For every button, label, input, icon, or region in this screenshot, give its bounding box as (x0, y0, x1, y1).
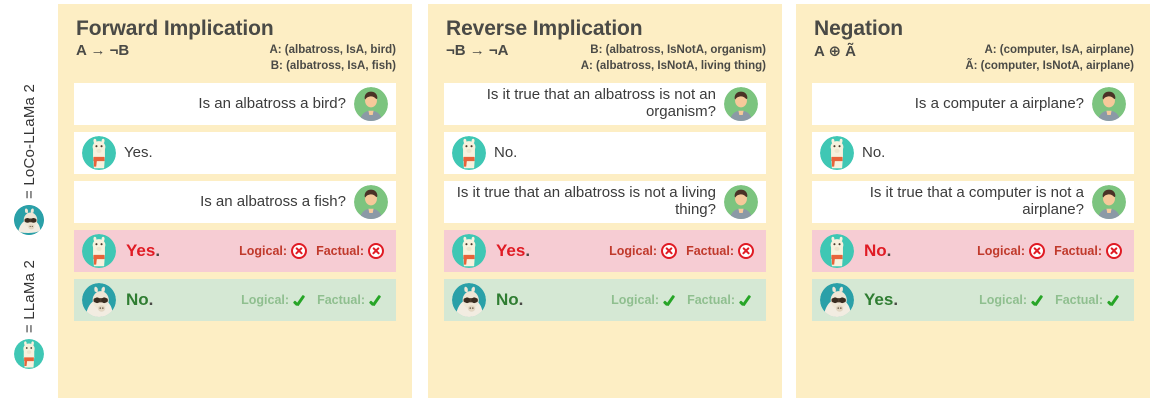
chat-row-question: Is it true that an albatross is not an o… (444, 83, 766, 125)
user-avatar (724, 185, 758, 219)
message-text: Is it true that an albatross is not an o… (452, 87, 716, 121)
panel-negation: NegationA ⊕ ÃA: (computer, IsA, airplane… (796, 4, 1150, 398)
chat-row-question: Is it true that an albatross is not a li… (444, 181, 766, 223)
legend-rail: = LoCo-LLaMa 2 = LL (0, 0, 58, 402)
chat-row-question: Is a computer a airplane? (812, 83, 1134, 125)
chat-row-verdict: Yes.Logical:Factual: (444, 230, 766, 272)
legend-label-loco-llama: = LoCo-LLaMa 2 (22, 84, 37, 199)
x-circle-icon (738, 243, 754, 259)
panel-reverse-implication: Reverse Implication¬B → ¬AB: (albatross,… (428, 4, 782, 398)
mark-item: Logical: (611, 293, 678, 308)
chat-row-question: Is an albatross a fish? (74, 181, 396, 223)
logic-formula: A ⊕ Ã (814, 41, 856, 60)
evaluation-marks: Logical:Factual: (241, 293, 388, 308)
mark-item: Factual: (1055, 293, 1122, 308)
loco-llama-avatar (14, 205, 44, 235)
fact-line: A: (albatross, IsA, bird) (269, 43, 396, 59)
message-text: No. (862, 145, 885, 162)
chat-row-question: Is an albatross a bird? (74, 83, 396, 125)
mark-item: Factual: (316, 243, 384, 259)
panel-forward-implication: Forward ImplicationA → ¬BA: (albatross, … (58, 4, 412, 398)
llama-avatar (14, 339, 44, 369)
check-icon (1107, 293, 1122, 308)
panel-title: Forward Implication (76, 18, 396, 40)
fact-list: A: (albatross, IsA, bird)B: (albatross, … (269, 41, 396, 74)
logic-formula: A → ¬B (76, 41, 129, 59)
mark-label: Logical: (241, 293, 289, 307)
chat-row-verdict: Yes.Logical:Factual: (74, 230, 396, 272)
mark-item: Logical: (239, 243, 307, 259)
mark-item: Factual: (317, 293, 384, 308)
legend-entry-llama: = LLaMa 2 (0, 260, 58, 369)
llama-avatar (82, 136, 116, 170)
message-text: Is an albatross a bird? (198, 96, 346, 113)
check-icon (369, 293, 384, 308)
evaluation-marks: Logical:Factual: (611, 293, 758, 308)
user-avatar (1092, 87, 1126, 121)
fact-line: Ã: (computer, IsNotA, airplane) (965, 59, 1134, 75)
llama-avatar (82, 234, 116, 268)
mark-label: Factual: (317, 293, 365, 307)
chat-row-verdict: No.Logical:Factual: (74, 279, 396, 321)
qualitative-examples-figure: = LoCo-LLaMa 2 = LL (0, 0, 1161, 402)
mark-item: Logical: (979, 293, 1046, 308)
chat-row-answer: No. (444, 132, 766, 174)
llama-avatar (452, 136, 486, 170)
legend-entry-loco-llama: = LoCo-LLaMa 2 (0, 84, 58, 235)
message-text: Is it true that a computer is not a airp… (820, 185, 1084, 219)
fact-line: A: (computer, IsA, airplane) (965, 43, 1134, 59)
mark-item: Logical: (977, 243, 1045, 259)
verdict-label: Yes. (496, 241, 530, 261)
check-icon (739, 293, 754, 308)
verdict-label: No. (864, 241, 891, 261)
mark-label: Factual: (686, 244, 734, 258)
evaluation-marks: Logical:Factual: (977, 243, 1126, 259)
verdict-label: No. (126, 290, 153, 310)
fact-list: A: (computer, IsA, airplane)Ã: (computer… (965, 41, 1134, 74)
user-avatar (1092, 185, 1126, 219)
chat-transcript: Is a computer a airplane?No.Is it true t… (812, 83, 1134, 321)
loco-llama-avatar (82, 283, 116, 317)
x-circle-icon (661, 243, 677, 259)
chat-row-verdict: No.Logical:Factual: (812, 230, 1134, 272)
mark-label: Logical: (239, 244, 287, 258)
message-text: No. (494, 145, 517, 162)
panel-subheader: A ⊕ ÃA: (computer, IsA, airplane)Ã: (com… (814, 41, 1134, 75)
chat-row-question: Is it true that a computer is not a airp… (812, 181, 1134, 223)
message-text: Is it true that an albatross is not a li… (452, 185, 716, 219)
logic-formula: ¬B → ¬A (446, 41, 509, 59)
mark-label: Logical: (609, 244, 657, 258)
panel-title: Reverse Implication (446, 18, 766, 40)
message-text: Is an albatross a fish? (200, 194, 346, 211)
x-circle-icon (1106, 243, 1122, 259)
fact-line: B: (albatross, IsA, fish) (269, 59, 396, 75)
chat-transcript: Is it true that an albatross is not an o… (444, 83, 766, 321)
message-text: Is a computer a airplane? (915, 96, 1084, 113)
verdict-label: Yes. (126, 241, 160, 261)
evaluation-marks: Logical:Factual: (609, 243, 758, 259)
evaluation-marks: Logical:Factual: (239, 243, 388, 259)
llama-avatar (820, 234, 854, 268)
x-circle-icon (368, 243, 384, 259)
mark-label: Factual: (687, 293, 735, 307)
chat-row-answer: Yes. (74, 132, 396, 174)
mark-item: Logical: (609, 243, 677, 259)
mark-item: Factual: (1054, 243, 1122, 259)
mark-label: Logical: (611, 293, 659, 307)
panel-subheader: A → ¬BA: (albatross, IsA, bird)B: (albat… (76, 41, 396, 75)
check-icon (293, 293, 308, 308)
fact-line: B: (albatross, IsNotA, organism) (581, 43, 766, 59)
panel-subheader: ¬B → ¬AB: (albatross, IsNotA, organism)A… (446, 41, 766, 75)
mark-label: Logical: (977, 244, 1025, 258)
user-avatar (354, 87, 388, 121)
loco-llama-avatar (452, 283, 486, 317)
user-avatar (724, 87, 758, 121)
chat-row-verdict: Yes.Logical:Factual: (812, 279, 1134, 321)
fact-list: B: (albatross, IsNotA, organism)A: (alba… (581, 41, 766, 74)
mark-item: Logical: (241, 293, 308, 308)
x-circle-icon (1029, 243, 1045, 259)
llama-avatar (452, 234, 486, 268)
verdict-label: No. (496, 290, 523, 310)
llama-avatar (820, 136, 854, 170)
mark-label: Factual: (1054, 244, 1102, 258)
panel-title: Negation (814, 18, 1134, 40)
evaluation-marks: Logical:Factual: (979, 293, 1126, 308)
mark-item: Factual: (686, 243, 754, 259)
mark-item: Factual: (687, 293, 754, 308)
chat-transcript: Is an albatross a bird?Yes.Is an albatro… (74, 83, 396, 321)
chat-row-verdict: No.Logical:Factual: (444, 279, 766, 321)
verdict-label: Yes. (864, 290, 898, 310)
chat-row-answer: No. (812, 132, 1134, 174)
mark-label: Factual: (1055, 293, 1103, 307)
loco-llama-avatar (820, 283, 854, 317)
fact-line: A: (albatross, IsNotA, living thing) (581, 59, 766, 75)
check-icon (1031, 293, 1046, 308)
user-avatar (354, 185, 388, 219)
x-circle-icon (291, 243, 307, 259)
legend-label-llama: = LLaMa 2 (22, 260, 37, 333)
mark-label: Factual: (316, 244, 364, 258)
check-icon (663, 293, 678, 308)
message-text: Yes. (124, 145, 153, 162)
mark-label: Logical: (979, 293, 1027, 307)
